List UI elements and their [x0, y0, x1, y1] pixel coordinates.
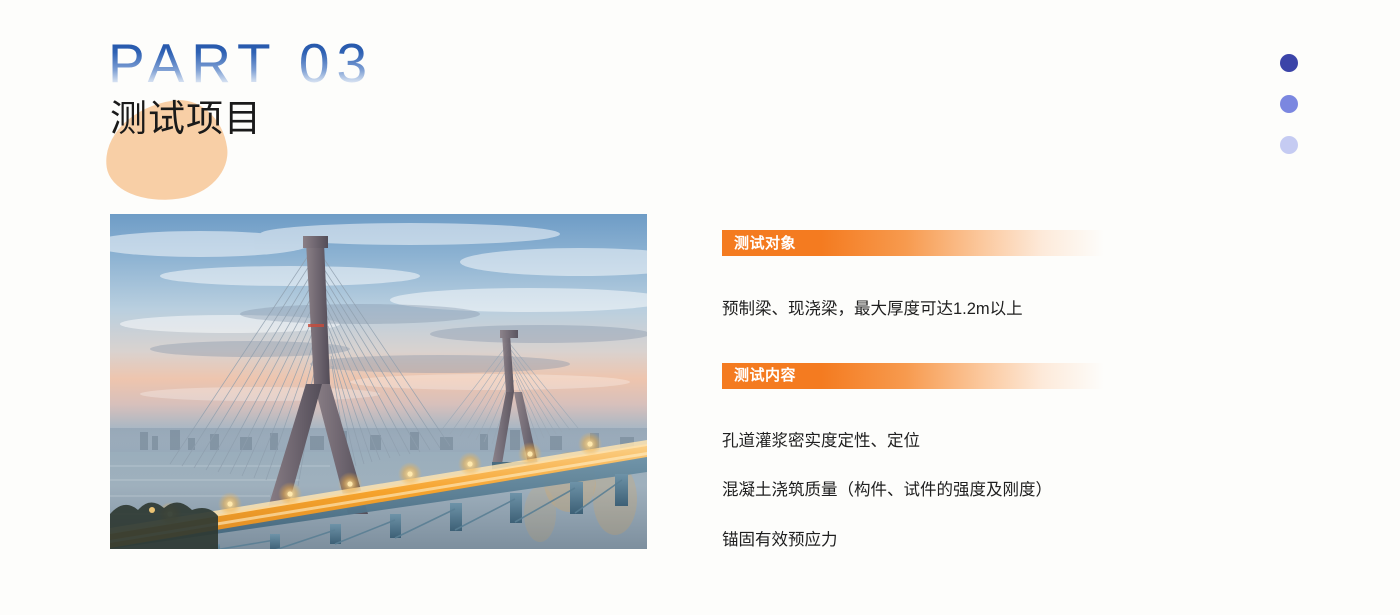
dot-2-icon	[1280, 95, 1298, 113]
section-content-list: 孔道灌浆密实度定性、定位 混凝土浇筑质量（构件、试件的强度及刚度） 锚固有效预应…	[722, 433, 1202, 549]
bridge-photo-illustration	[110, 214, 647, 549]
section-header-bar-content: 测试内容	[722, 363, 1104, 389]
dot-1-icon	[1280, 54, 1298, 72]
dot-3-icon	[1280, 136, 1298, 154]
section-title-object: 测试对象	[734, 236, 796, 251]
section-header-bar-object: 测试对象	[722, 230, 1104, 256]
page-title: 测试项目	[110, 100, 262, 137]
section-content-line-3: 锚固有效预应力	[722, 532, 1202, 549]
section-object-line-1: 预制梁、现浇梁，最大厚度可达1.2m以上	[722, 301, 1202, 318]
part-label: PART 03	[108, 36, 374, 91]
section-test-content: 测试内容 孔道灌浆密实度定性、定位 混凝土浇筑质量（构件、试件的强度及刚度） 锚…	[722, 363, 1202, 549]
decorative-dots	[1280, 54, 1298, 154]
bridge-photo	[110, 214, 647, 549]
content-column: 测试对象 预制梁、现浇梁，最大厚度可达1.2m以上 测试内容 孔道灌浆密实度定性…	[722, 230, 1202, 548]
section-title-content: 测试内容	[734, 368, 796, 383]
section-test-object: 测试对象 预制梁、现浇梁，最大厚度可达1.2m以上	[722, 230, 1202, 318]
page-title-block: PART 03 测试项目	[105, 36, 525, 186]
section-content-line-1: 孔道灌浆密实度定性、定位	[722, 433, 1202, 450]
section-content-line-2: 混凝土浇筑质量（构件、试件的强度及刚度）	[722, 482, 1202, 499]
